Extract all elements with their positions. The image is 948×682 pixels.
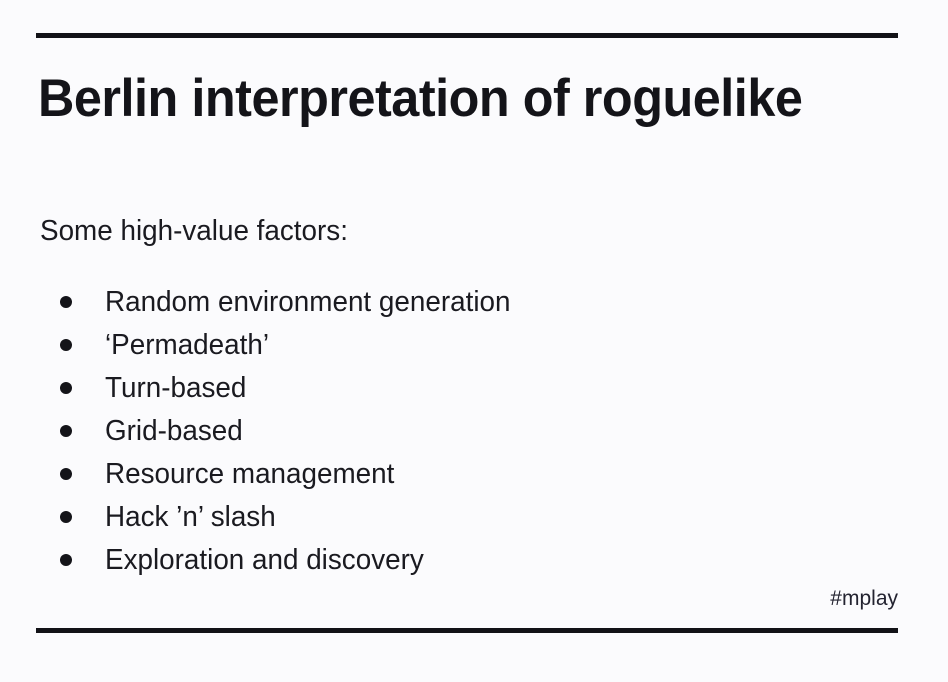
bullet-dot-icon bbox=[60, 554, 72, 566]
bullet-dot-icon bbox=[60, 296, 72, 308]
list-item: Random environment generation bbox=[40, 280, 880, 323]
list-item-label: Resource management bbox=[105, 457, 394, 491]
list-item-label: Hack ’n’ slash bbox=[105, 500, 276, 534]
intro-text: Some high-value factors: bbox=[40, 213, 348, 249]
bullet-dot-icon bbox=[60, 425, 72, 437]
list-item: Exploration and discovery bbox=[40, 538, 880, 581]
footer-handle: #mplay bbox=[830, 586, 898, 612]
bullet-dot-icon bbox=[60, 511, 72, 523]
list-item: Hack ’n’ slash bbox=[40, 495, 880, 538]
list-item: Resource management bbox=[40, 452, 880, 495]
bottom-divider-rule bbox=[36, 628, 898, 633]
list-item-label: ‘Permadeath’ bbox=[105, 328, 269, 362]
page-title: Berlin interpretation of roguelike bbox=[38, 68, 802, 130]
bullet-dot-icon bbox=[60, 339, 72, 351]
bullet-dot-icon bbox=[60, 382, 72, 394]
list-item: Grid-based bbox=[40, 409, 880, 452]
list-item-label: Turn-based bbox=[105, 371, 246, 405]
bullet-dot-icon bbox=[60, 468, 72, 480]
list-item: Turn-based bbox=[40, 366, 880, 409]
list-item-label: Grid-based bbox=[105, 414, 243, 448]
list-item-label: Random environment generation bbox=[105, 285, 510, 319]
slide: Berlin interpretation of roguelike Some … bbox=[0, 0, 948, 682]
factors-list: Random environment generation ‘Permadeat… bbox=[40, 280, 880, 581]
top-divider-rule bbox=[36, 33, 898, 38]
list-item-label: Exploration and discovery bbox=[105, 543, 424, 577]
list-item: ‘Permadeath’ bbox=[40, 323, 880, 366]
